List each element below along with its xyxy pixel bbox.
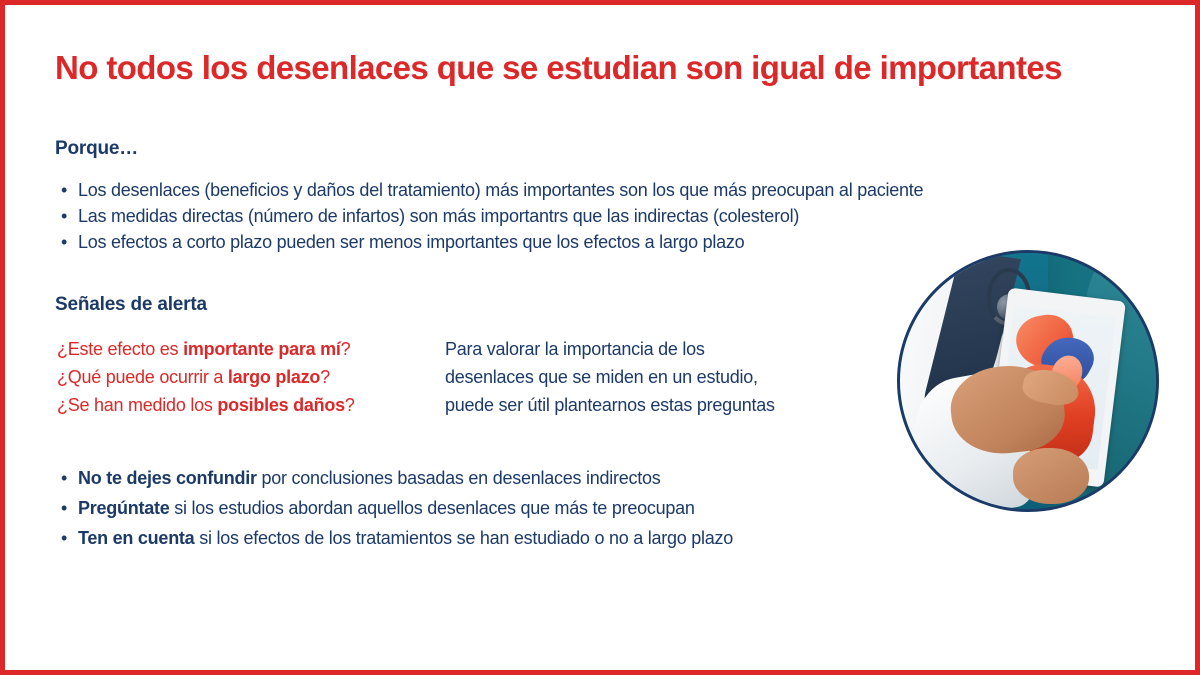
action-emphasis: Ten en cuenta (78, 528, 194, 548)
list-item: Pregúntate si los estudios abordan aquel… (60, 493, 733, 523)
question-emphasis: posibles daños (217, 395, 345, 415)
action-emphasis: No te dejes confundir (78, 468, 257, 488)
question-suffix: ? (345, 395, 355, 415)
alert-question: ¿Este efecto es importante para mí? (57, 335, 355, 363)
list-item: Las medidas directas (número de infartos… (60, 203, 923, 229)
question-prefix: ¿Se han medido los (57, 395, 217, 415)
question-prefix: ¿Qué puede ocurrir a (57, 367, 228, 387)
action-bullet-list: No te dejes confundir por conclusiones b… (60, 463, 733, 553)
action-rest: por conclusiones basadas en desenlaces i… (257, 468, 661, 488)
answer-line: Para valorar la importancia de los (445, 335, 905, 363)
question-emphasis: largo plazo (228, 367, 320, 387)
list-item: No te dejes confundir por conclusiones b… (60, 463, 733, 493)
answer-line: puede ser útil plantearnos estas pregunt… (445, 391, 905, 419)
doctor-tablet-photo (897, 250, 1159, 512)
question-suffix: ? (341, 339, 351, 359)
infographic-poster: No todos los desenlaces que se estudian … (0, 0, 1200, 675)
alert-questions: ¿Este efecto es importante para mí? ¿Qué… (57, 335, 355, 419)
alert-question: ¿Qué puede ocurrir a largo plazo? (57, 363, 355, 391)
why-bullet-list: Los desenlaces (beneficios y daños del t… (60, 177, 923, 255)
list-item: Los desenlaces (beneficios y daños del t… (60, 177, 923, 203)
section-heading-porque: Porque… (55, 138, 138, 160)
list-item: Los efectos a corto plazo pueden ser men… (60, 229, 923, 255)
action-emphasis: Pregúntate (78, 498, 170, 518)
page-title: No todos los desenlaces que se estudian … (55, 49, 1155, 87)
photo-inner (900, 253, 1156, 509)
action-rest: si los estudios abordan aquellos desenla… (170, 498, 695, 518)
question-emphasis: importante para mí (183, 339, 341, 359)
question-prefix: ¿Este efecto es (57, 339, 183, 359)
answer-line: desenlaces que se miden en un estudio, (445, 363, 905, 391)
list-item: Ten en cuenta si los efectos de los trat… (60, 523, 733, 553)
alert-question: ¿Se han medido los posibles daños? (57, 391, 355, 419)
footer: Cochrane Iberoamérica Claves del pensami… (5, 558, 1195, 670)
photo-supporting-hand (1013, 448, 1090, 504)
question-suffix: ? (320, 367, 330, 387)
alert-answer-text: Para valorar la importancia de los desen… (445, 335, 905, 419)
action-rest: si los efectos de los tratamientos se ha… (194, 528, 733, 548)
section-heading-senales-de-alerta: Señales de alerta (55, 294, 207, 316)
